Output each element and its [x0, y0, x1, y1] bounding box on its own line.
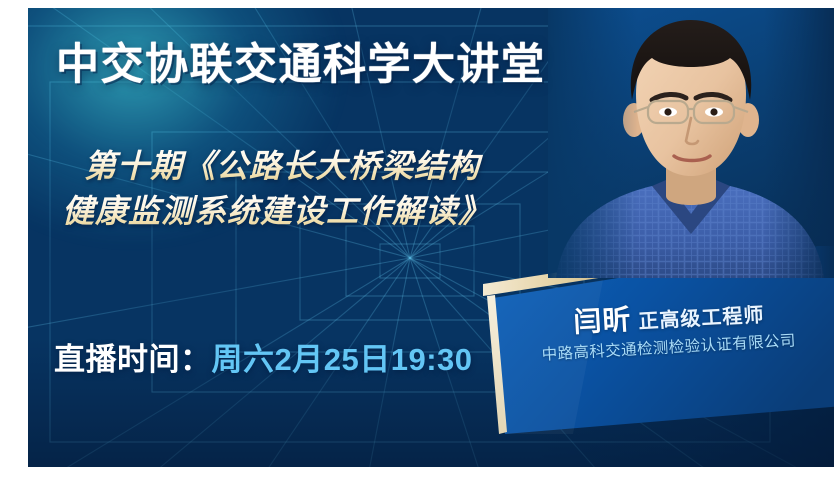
page-title: 中交协联交通科学大讲堂 [56, 30, 546, 92]
subtitle-line-1: 第十期《公路长大桥梁结构 [58, 144, 618, 189]
speaker-name: 闫昕 [573, 304, 633, 338]
live-time-value: 周六2月25日19:30 [212, 342, 473, 377]
photo-right-fade [764, 8, 834, 278]
episode-subtitle: 第十期《公路长大桥梁结构 健康监测系统建设工作解读》 [58, 144, 618, 235]
live-time: 直播时间：周六2月25日19:30 [54, 334, 473, 379]
speaker-photo [548, 8, 834, 278]
subtitle-line-2: 健康监测系统建设工作解读》 [58, 189, 618, 234]
speaker-title: 正高级工程师 [638, 304, 765, 333]
poster-canvas: 闫昕正高级工程师 中路高科交通检测检验认证有限公司 中交协联交通科学大讲堂 第十… [28, 8, 834, 467]
photo-left-fade [548, 8, 638, 278]
live-time-label: 直播时间： [54, 342, 212, 377]
